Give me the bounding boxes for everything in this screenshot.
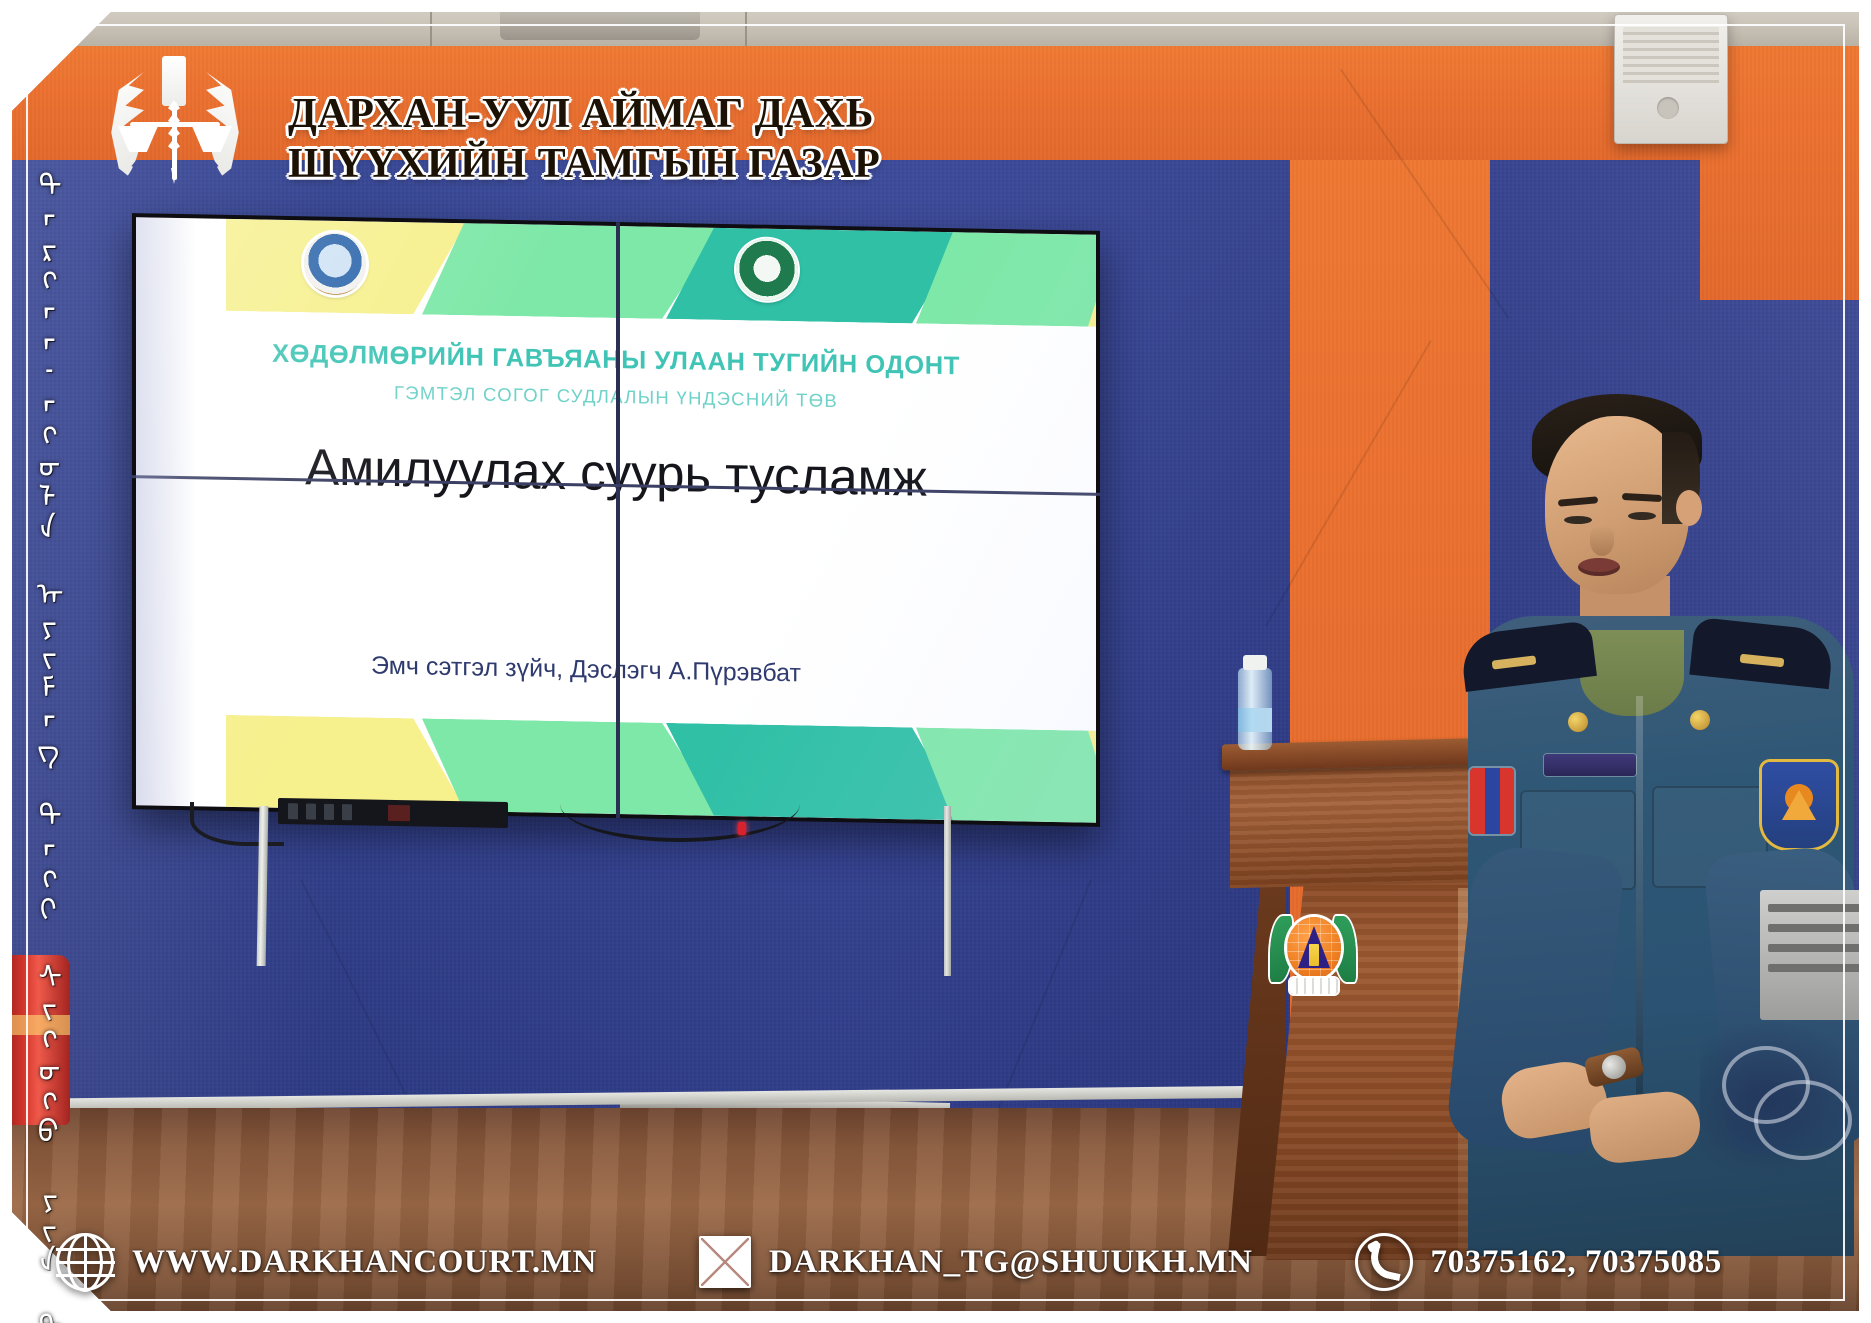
court-scales-emblem bbox=[100, 50, 250, 186]
water-bottle bbox=[1238, 668, 1272, 750]
phone-text: 70375162, 70375085 bbox=[1431, 1244, 1722, 1281]
org-title-line-1: ДАРХАН-УУЛ АЙМАГ ДАХЬ bbox=[288, 90, 880, 140]
speaker-unit-patch bbox=[1762, 762, 1836, 848]
speaker-eye-right bbox=[1628, 512, 1656, 520]
speaker-collar-badge-left bbox=[1568, 712, 1588, 732]
speaker-nose bbox=[1590, 526, 1614, 556]
cable-bundle bbox=[1700, 1020, 1871, 1180]
ceiling-seam-b bbox=[745, 0, 747, 46]
footer-phone[interactable]: 70375162, 70375085 bbox=[1355, 1233, 1722, 1291]
poster-canvas: ХӨДӨЛМӨРИЙН ГАВЪЯАНЫ УЛААН ТУГИЙН ОДОНТ … bbox=[0, 0, 1871, 1323]
mongolian-vertical-script: ᠳᠠᠷᠬᠠᠨ᠊ᠠᠭᠤᠯᠠ ᠠᠶᠢᠮᠠᠭ ᠳᠠᠬᠢ ᠰᠢᠭᠦᠬᠦ ᠶᠢᠨ ᠲᠠᠮᠠ… bbox=[14, 170, 70, 1100]
speaker-ear bbox=[1676, 490, 1702, 526]
display-bezel-vertical bbox=[616, 222, 620, 818]
website-text: WWW.DARKHANCOURT.MN bbox=[132, 1244, 597, 1281]
email-text: DARKHAN_TG@SHUUKH.MN bbox=[769, 1244, 1253, 1281]
room-photograph: ХӨДӨЛМӨРИЙН ГАВЪЯАНЫ УЛААН ТУГИЙН ОДОНТ … bbox=[0, 0, 1871, 1323]
slide-author: Эмч сэтгэл зүйч, Дэслэгч А.Пүрэвбат bbox=[136, 647, 1036, 692]
display-mount-pole-right bbox=[944, 806, 951, 976]
ribbon-chevron-teal bbox=[666, 227, 966, 324]
ceiling bbox=[0, 0, 1871, 46]
footer-contact-bar: WWW.DARKHANCOURT.MN DARKHAN_TG@SHUUKH.MN… bbox=[26, 1223, 1845, 1301]
speaker-eye-left bbox=[1564, 516, 1592, 524]
ceiling-ac-unit bbox=[1614, 14, 1728, 144]
globe-icon bbox=[56, 1233, 114, 1291]
envelope-icon bbox=[699, 1236, 751, 1288]
emblem-ribbon-base bbox=[1290, 978, 1338, 994]
speaker-flag-patch bbox=[1470, 768, 1514, 834]
unit-patch-triangle bbox=[1782, 790, 1816, 820]
mongolian-script-text: ᠳᠠᠷᠬᠠᠨ᠊ᠠᠭᠤᠯᠠ ᠠᠶᠢᠮᠠᠭ ᠳᠠᠬᠢ ᠰᠢᠭᠦᠬᠦ ᠶᠢᠨ ᠲᠠᠮᠠ… bbox=[15, 170, 69, 1323]
footer-email[interactable]: DARKHAN_TG@SHUUKH.MN bbox=[699, 1236, 1253, 1288]
ac-grill bbox=[1623, 27, 1719, 85]
phone-icon bbox=[1355, 1233, 1413, 1291]
ceiling-seam-a bbox=[430, 0, 432, 46]
orange-felt-panel-top bbox=[0, 40, 1871, 160]
emblem-soyombo bbox=[1309, 944, 1319, 966]
speaker-collar-badge-right bbox=[1690, 710, 1710, 730]
ac-knob bbox=[1657, 97, 1679, 119]
bottle-label bbox=[1238, 708, 1272, 732]
video-wall-display: ХӨДӨЛМӨРИЙН ГАВЪЯАНЫ УЛААН ТУГИЙН ОДОНТ … bbox=[132, 213, 1100, 827]
organization-title: ДАРХАН-УУЛ АЙМАГ ДАХЬ ШҮҮХИЙН ТАМГЫН ГАЗ… bbox=[288, 90, 880, 189]
audio-equipment-rack bbox=[1760, 890, 1871, 1020]
footer-website[interactable]: WWW.DARKHANCOURT.MN bbox=[56, 1233, 597, 1291]
ceiling-projector-housing bbox=[500, 0, 700, 40]
nema-mongolia-emblem bbox=[1270, 912, 1356, 1002]
org-title-line-2: ШҮҮХИЙН ТАМГЫН ГАЗАР bbox=[288, 140, 880, 190]
display-power-led bbox=[738, 822, 746, 835]
emblem-soyombo-top bbox=[162, 56, 186, 106]
cable-coil-2 bbox=[1754, 1080, 1852, 1160]
speaker-name-tag bbox=[1544, 754, 1636, 776]
bottle-cap bbox=[1243, 655, 1267, 670]
ministry-emblem-icon bbox=[304, 232, 366, 295]
speaker-mouth bbox=[1578, 558, 1620, 576]
display-connector-strip bbox=[278, 798, 508, 828]
globe-meridian bbox=[67, 1233, 103, 1292]
trauma-center-emblem-icon bbox=[736, 238, 798, 301]
